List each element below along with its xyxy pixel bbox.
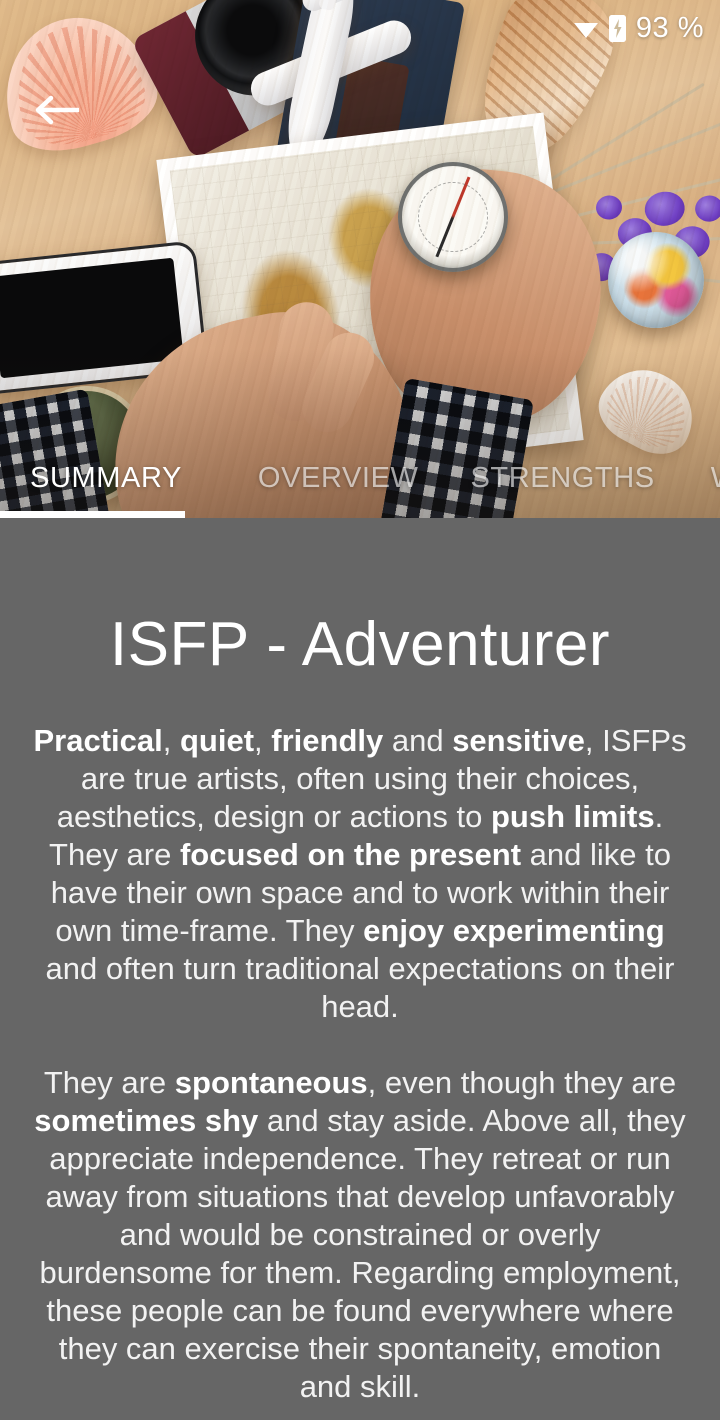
- battery-charging-icon: [609, 15, 626, 42]
- battery-percentage: 93 %: [636, 12, 704, 45]
- summary-paragraph-1: Practical, quiet, friendly and sensitive…: [0, 722, 720, 1026]
- content-panel: ISFP - Adventurer Practical, quiet, frie…: [0, 518, 720, 1420]
- tab-summary[interactable]: SUMMARY: [30, 462, 182, 495]
- hero-image: 93 % SUMMARY OVERVIEW STRENGTHS WEAKNES: [0, 0, 720, 518]
- arrow-left-icon: [33, 93, 79, 132]
- camera-decoration: [131, 0, 384, 160]
- airplane-wing-decoration: [246, 15, 416, 110]
- wifi-icon: [573, 19, 599, 39]
- dried-flowers-decoration: [504, 85, 720, 355]
- app-screen: 93 % SUMMARY OVERVIEW STRENGTHS WEAKNES …: [0, 0, 720, 1420]
- tab-weaknesses[interactable]: WEAKNES: [711, 462, 720, 495]
- summary-paragraph-2: They are spontaneous, even though they a…: [0, 1064, 720, 1406]
- airplane-fin-decoration: [318, 0, 342, 11]
- globe-decoration: [608, 232, 704, 328]
- notebook-decoration: [326, 56, 409, 204]
- airplane-body-decoration: [280, 0, 363, 166]
- airplane-tail-decoration: [299, 0, 393, 14]
- tab-overview[interactable]: OVERVIEW: [258, 462, 419, 495]
- back-button[interactable]: [30, 86, 82, 138]
- tab-strengths[interactable]: STRENGTHS: [470, 462, 654, 495]
- tab-bar[interactable]: SUMMARY OVERVIEW STRENGTHS WEAKNES: [0, 438, 720, 518]
- compass-decoration: [398, 162, 508, 272]
- passport-decoration: [271, 0, 465, 210]
- page-title: ISFP - Adventurer: [0, 612, 720, 677]
- status-bar: 93 %: [573, 12, 704, 45]
- active-tab-indicator: [0, 511, 185, 518]
- seashell-decoration: [0, 0, 167, 164]
